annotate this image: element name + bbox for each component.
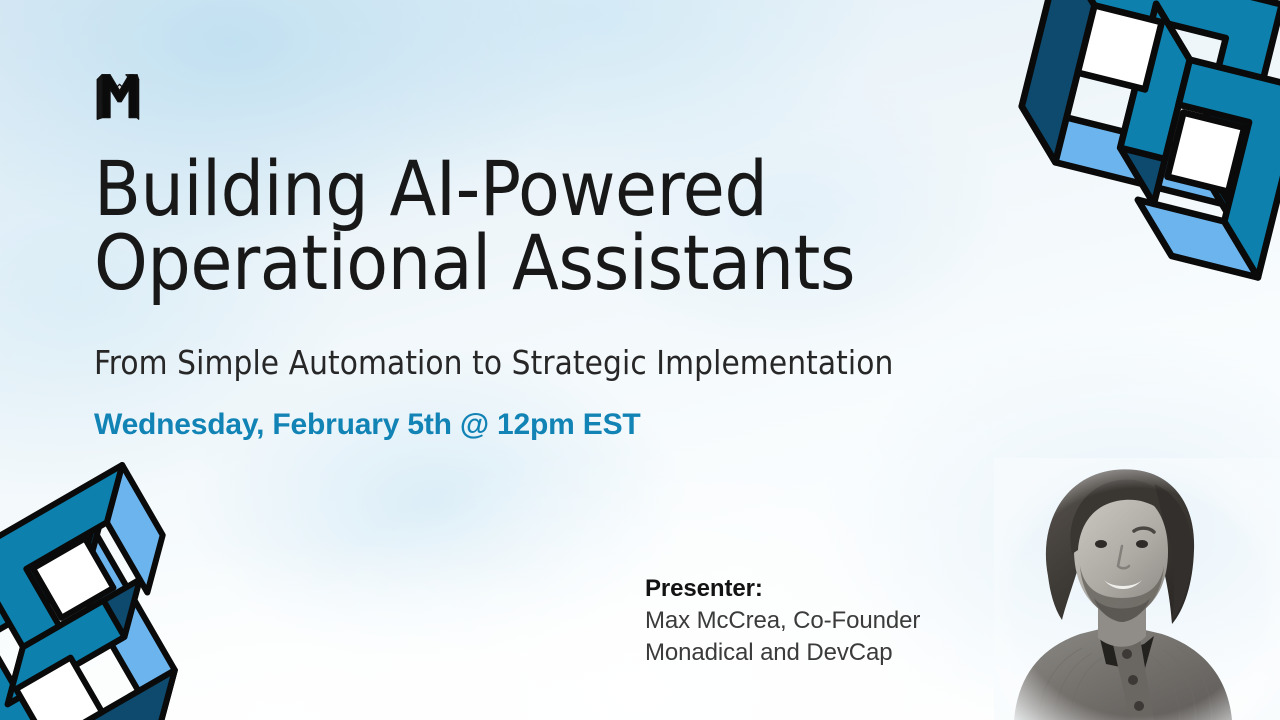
monadical-m-logo-icon bbox=[94, 70, 142, 124]
monadical-m-logo-icon bbox=[961, 0, 1280, 307]
hero-content: Building AI-Powered Operational Assistan… bbox=[94, 152, 954, 442]
bottom-left-logo-decoration bbox=[0, 431, 277, 720]
presenter-block: Presenter: Max McCrea, Co-Founder Monadi… bbox=[645, 575, 1005, 667]
presenter-headshot-image bbox=[994, 458, 1280, 720]
page-title: Building AI-Powered Operational Assistan… bbox=[94, 152, 954, 299]
presenter-company: Monadical and DevCap bbox=[645, 639, 1005, 667]
webinar-promo-slide: Building AI-Powered Operational Assistan… bbox=[0, 0, 1280, 720]
page-subtitle: From Simple Automation to Strategic Impl… bbox=[94, 343, 954, 382]
top-right-logo-decoration bbox=[961, 0, 1280, 307]
brand-logo bbox=[94, 70, 142, 124]
presenter-name: Max McCrea, Co-Founder bbox=[645, 607, 1005, 635]
presenter-label: Presenter: bbox=[645, 575, 1005, 603]
event-datetime: Wednesday, February 5th @ 12pm EST bbox=[94, 408, 954, 442]
presenter-photo bbox=[994, 458, 1280, 720]
monadical-m-logo-icon bbox=[0, 431, 277, 720]
